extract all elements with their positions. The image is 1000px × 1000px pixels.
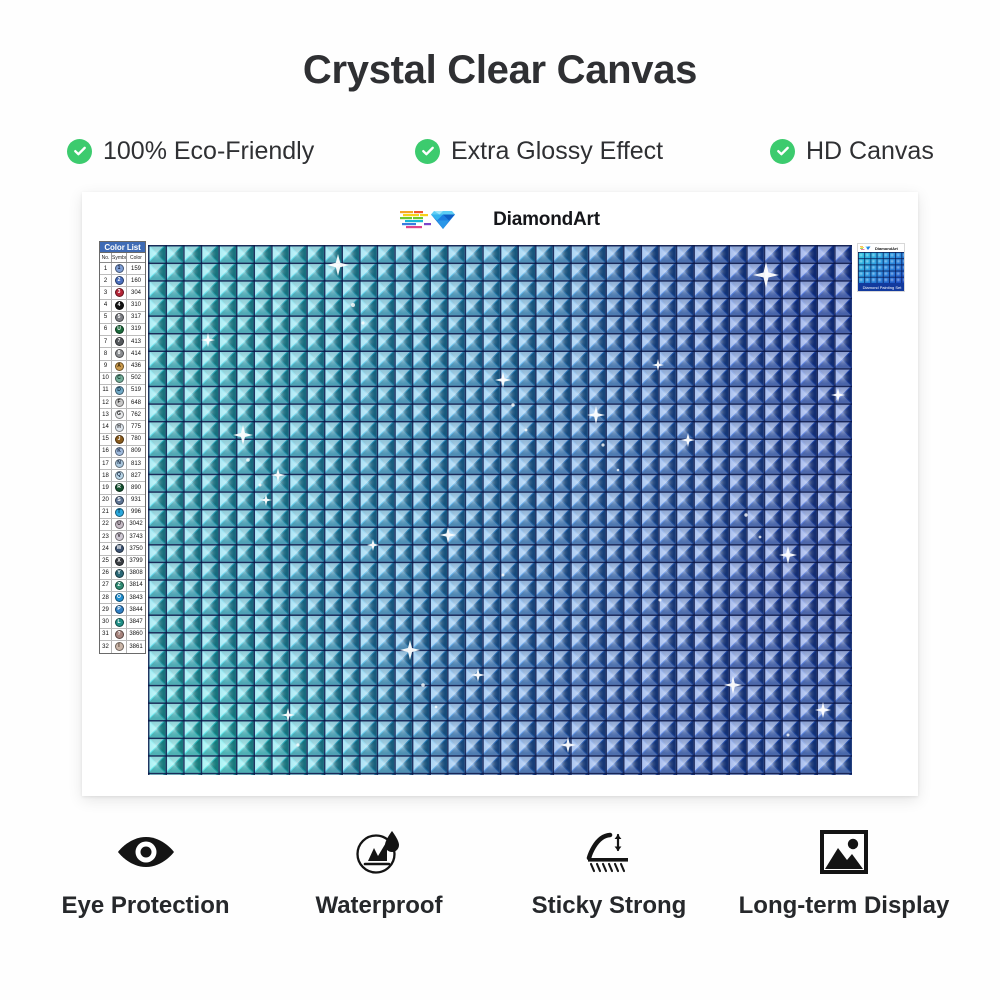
- color-row-code: 414: [127, 348, 145, 359]
- color-row-number: 18: [100, 470, 112, 481]
- color-symbol-swatch: 8: [115, 349, 124, 358]
- color-row-code: 304: [127, 287, 145, 298]
- bottom-feature-label: Waterproof: [268, 892, 490, 920]
- color-row-symbol-cell: G: [112, 409, 127, 420]
- waterdrop-icon: [268, 828, 490, 876]
- adhesive-icon: [500, 828, 718, 876]
- color-row-code: 502: [127, 373, 145, 384]
- color-symbol-swatch: L: [115, 618, 124, 627]
- color-row-symbol-cell: 3: [112, 287, 127, 298]
- bottom-feature-sticky-strong: Sticky Strong: [500, 828, 718, 920]
- color-symbol-swatch: A: [115, 362, 124, 371]
- color-list-header-row: No. Symbol Color: [100, 253, 145, 263]
- color-symbol-swatch: N: [115, 459, 124, 468]
- bottom-feature-label: Eye Protection: [33, 892, 258, 920]
- bottom-feature-label: Sticky Strong: [500, 892, 718, 920]
- color-row-number: 17: [100, 458, 112, 469]
- feature-label: Extra Glossy Effect: [451, 137, 663, 166]
- color-row-number: 29: [100, 604, 112, 615]
- color-symbol-swatch: X: [115, 557, 124, 566]
- color-list-row: 88414: [100, 348, 145, 360]
- color-list-row: 22U3042: [100, 519, 145, 531]
- color-row-code: 931: [127, 495, 145, 506]
- color-list-body: 11159221603330444310553176U3197741388414…: [100, 263, 145, 653]
- color-symbol-swatch: 1: [115, 264, 124, 273]
- color-symbol-swatch: Y: [115, 569, 124, 578]
- color-symbol-swatch: 7: [115, 337, 124, 346]
- color-list-table: Color List No. Symbol Color 111592216033…: [99, 241, 146, 654]
- color-row-symbol-cell: D: [112, 385, 127, 396]
- color-symbol-swatch: R: [115, 483, 124, 492]
- color-row-symbol-cell: 5: [112, 312, 127, 323]
- color-list-row: 23V3743: [100, 531, 145, 543]
- bottom-feature-long-term-display: Long-term Display: [720, 828, 968, 920]
- color-list-row: 32I3861: [100, 641, 145, 653]
- color-row-symbol-cell: F: [112, 397, 127, 408]
- color-row-code: 827: [127, 470, 145, 481]
- color-row-number: 31: [100, 629, 112, 640]
- page-title: Crystal Clear Canvas: [0, 48, 1000, 93]
- color-row-symbol-cell: S: [112, 495, 127, 506]
- color-row-code: 519: [127, 385, 145, 396]
- color-list-row: 21T996: [100, 507, 145, 519]
- color-row-code: 3808: [127, 568, 145, 579]
- color-row-code: 319: [127, 324, 145, 335]
- color-row-code: 310: [127, 300, 145, 311]
- color-row-code: 3799: [127, 556, 145, 567]
- color-row-code: 813: [127, 458, 145, 469]
- color-row-code: 160: [127, 275, 145, 286]
- color-symbol-swatch: O: [115, 593, 124, 602]
- color-row-code: 775: [127, 421, 145, 432]
- color-list-row: 20S931: [100, 495, 145, 507]
- color-symbol-swatch: D: [115, 386, 124, 395]
- color-list-row: 11D519: [100, 385, 145, 397]
- color-row-code: 996: [127, 507, 145, 518]
- feature-hd-canvas: HD Canvas: [770, 137, 934, 166]
- color-list-row: 11159: [100, 263, 145, 275]
- color-row-number: 24: [100, 543, 112, 554]
- color-list-row: 16K809: [100, 446, 145, 458]
- bottom-feature-waterproof: Waterproof: [268, 828, 490, 920]
- color-row-number: 30: [100, 616, 112, 627]
- color-row-symbol-cell: N: [112, 458, 127, 469]
- color-row-number: 14: [100, 421, 112, 432]
- color-list-row: 10C502: [100, 373, 145, 385]
- color-symbol-swatch: C: [115, 374, 124, 383]
- color-row-symbol-cell: R: [112, 482, 127, 493]
- color-row-code: 648: [127, 397, 145, 408]
- color-row-number: 15: [100, 434, 112, 445]
- bottom-feature-row: Eye Protection Waterproof: [0, 828, 1000, 938]
- product-feature-page: Crystal Clear Canvas 100% Eco-Friendly E…: [0, 0, 1000, 1000]
- color-row-number: 10: [100, 373, 112, 384]
- color-list-row: 18Q827: [100, 470, 145, 482]
- color-row-number: 2: [100, 275, 112, 286]
- color-list-row: 30L3847: [100, 616, 145, 628]
- color-row-number: 20: [100, 495, 112, 506]
- color-symbol-swatch: H: [115, 423, 124, 432]
- color-row-number: 16: [100, 446, 112, 457]
- column-header-no: No.: [100, 253, 112, 262]
- feature-label: 100% Eco-Friendly: [103, 137, 314, 166]
- color-row-symbol-cell: U: [112, 324, 127, 335]
- color-symbol-swatch: Q: [115, 471, 124, 480]
- color-row-code: 3814: [127, 580, 145, 591]
- color-symbol-swatch: 2: [115, 276, 124, 285]
- color-symbol-swatch: 5: [115, 313, 124, 322]
- color-list-title: Color List: [100, 242, 145, 253]
- color-row-number: 13: [100, 409, 112, 420]
- color-row-number: 26: [100, 568, 112, 579]
- eye-icon: [33, 828, 258, 876]
- color-symbol-swatch: G: [115, 410, 124, 419]
- thumbnail-header: DiamondArt: [858, 244, 905, 252]
- diamond-mosaic-artwork: [148, 245, 852, 775]
- color-symbol-swatch: W: [115, 544, 124, 553]
- color-list-row: 15J780: [100, 434, 145, 446]
- color-row-number: 23: [100, 531, 112, 542]
- color-row-number: 3: [100, 287, 112, 298]
- color-row-symbol-cell: V: [112, 531, 127, 542]
- color-row-number: 27: [100, 580, 112, 591]
- mosaic-grid-lines: [148, 245, 852, 775]
- color-row-symbol-cell: L: [112, 616, 127, 627]
- color-symbol-swatch: U: [115, 325, 124, 334]
- color-row-number: 1: [100, 263, 112, 274]
- color-row-code: 3847: [127, 616, 145, 627]
- feature-label: HD Canvas: [806, 137, 934, 166]
- color-symbol-swatch: S: [115, 496, 124, 505]
- color-row-symbol-cell: T: [112, 507, 127, 518]
- check-circle-icon: [415, 139, 440, 164]
- color-symbol-swatch: ?: [115, 630, 124, 639]
- color-row-code: 3860: [127, 629, 145, 640]
- color-row-number: 12: [100, 397, 112, 408]
- color-list-row: 17N813: [100, 458, 145, 470]
- color-row-symbol-cell: K: [112, 446, 127, 457]
- diamond-logo-icon: [860, 245, 874, 251]
- color-row-symbol-cell: Q: [112, 470, 127, 481]
- color-list-row: 77413: [100, 336, 145, 348]
- color-list-row: 9A436: [100, 361, 145, 373]
- color-symbol-swatch: 3: [115, 288, 124, 297]
- bottom-feature-eye-protection: Eye Protection: [33, 828, 258, 920]
- color-list-row: 29P3844: [100, 604, 145, 616]
- color-row-symbol-cell: X: [112, 556, 127, 567]
- color-row-number: 32: [100, 641, 112, 653]
- color-row-code: 317: [127, 312, 145, 323]
- color-list-row: 25X3799: [100, 556, 145, 568]
- color-row-symbol-cell: 7: [112, 336, 127, 347]
- color-row-symbol-cell: H: [112, 421, 127, 432]
- color-symbol-swatch: 4: [115, 301, 124, 310]
- color-symbol-swatch: V: [115, 532, 124, 541]
- color-row-number: 9: [100, 361, 112, 372]
- picture-icon: [720, 828, 968, 876]
- color-symbol-swatch: J: [115, 435, 124, 444]
- column-header-symbol: Symbol: [112, 253, 127, 262]
- color-row-symbol-cell: 2: [112, 275, 127, 286]
- color-row-code: 3743: [127, 531, 145, 542]
- color-row-number: 4: [100, 300, 112, 311]
- package-thumbnail: DiamondArt Diamond Painting Set: [857, 243, 905, 292]
- color-row-code: 3843: [127, 592, 145, 603]
- color-row-code: 809: [127, 446, 145, 457]
- color-row-code: 3750: [127, 543, 145, 554]
- color-list-row: 44310: [100, 300, 145, 312]
- diamond-logo-icon: [400, 206, 486, 234]
- brand-header: DiamondArt: [82, 204, 918, 236]
- color-row-symbol-cell: 1: [112, 263, 127, 274]
- color-row-number: 11: [100, 385, 112, 396]
- color-row-symbol-cell: Z: [112, 580, 127, 591]
- color-row-number: 5: [100, 312, 112, 323]
- color-row-symbol-cell: ?: [112, 629, 127, 640]
- color-row-number: 28: [100, 592, 112, 603]
- color-row-code: 413: [127, 336, 145, 347]
- color-row-code: 436: [127, 361, 145, 372]
- color-symbol-swatch: T: [115, 508, 124, 517]
- color-list-row: 27Z3814: [100, 580, 145, 592]
- feature-check-row: 100% Eco-Friendly Extra Glossy Effect HD…: [0, 131, 1000, 171]
- color-row-symbol-cell: Y: [112, 568, 127, 579]
- color-symbol-swatch: U: [115, 520, 124, 529]
- color-list-row: 28O3843: [100, 592, 145, 604]
- color-row-symbol-cell: I: [112, 641, 127, 653]
- color-list-row: 6U319: [100, 324, 145, 336]
- thumbnail-brand: DiamondArt: [875, 246, 898, 251]
- color-symbol-swatch: P: [115, 605, 124, 614]
- canvas-preview-card: DiamondArt: [82, 192, 918, 796]
- color-row-code: 890: [127, 482, 145, 493]
- color-row-code: 159: [127, 263, 145, 274]
- color-list-row: 22160: [100, 275, 145, 287]
- check-circle-icon: [770, 139, 795, 164]
- color-row-number: 7: [100, 336, 112, 347]
- color-row-code: 3861: [127, 641, 145, 653]
- feature-eco-friendly: 100% Eco-Friendly: [67, 137, 314, 166]
- color-list-row: 13G762: [100, 409, 145, 421]
- color-list-row: 12F648: [100, 397, 145, 409]
- color-row-number: 21: [100, 507, 112, 518]
- color-list-row: 24W3750: [100, 543, 145, 555]
- color-symbol-swatch: K: [115, 447, 124, 456]
- color-list-row: 31?3860: [100, 629, 145, 641]
- color-symbol-swatch: F: [115, 398, 124, 407]
- color-row-code: 780: [127, 434, 145, 445]
- check-circle-icon: [67, 139, 92, 164]
- thumbnail-artwork: [858, 252, 905, 285]
- feature-glossy-effect: Extra Glossy Effect: [415, 137, 663, 166]
- column-header-color: Color: [127, 253, 145, 262]
- color-list-row: 26Y3808: [100, 568, 145, 580]
- color-row-symbol-cell: P: [112, 604, 127, 615]
- color-list-row: 19R890: [100, 482, 145, 494]
- color-row-symbol-cell: J: [112, 434, 127, 445]
- color-list-row: 33304: [100, 287, 145, 299]
- color-list-row: 55317: [100, 312, 145, 324]
- color-row-symbol-cell: 8: [112, 348, 127, 359]
- brand-name: DiamondArt: [493, 209, 600, 231]
- color-row-number: 25: [100, 556, 112, 567]
- color-symbol-swatch: Z: [115, 581, 124, 590]
- color-row-number: 6: [100, 324, 112, 335]
- color-row-number: 19: [100, 482, 112, 493]
- color-row-code: 3844: [127, 604, 145, 615]
- color-row-number: 8: [100, 348, 112, 359]
- color-row-code: 3042: [127, 519, 145, 530]
- color-row-symbol-cell: U: [112, 519, 127, 530]
- thumbnail-caption: Diamond Painting Set: [858, 283, 905, 291]
- color-row-symbol-cell: C: [112, 373, 127, 384]
- color-symbol-swatch: I: [115, 642, 124, 651]
- color-row-symbol-cell: O: [112, 592, 127, 603]
- color-list-row: 14H775: [100, 421, 145, 433]
- bottom-feature-label: Long-term Display: [720, 892, 968, 920]
- color-row-number: 22: [100, 519, 112, 530]
- color-row-symbol-cell: A: [112, 361, 127, 372]
- color-row-symbol-cell: 4: [112, 300, 127, 311]
- color-row-code: 762: [127, 409, 145, 420]
- color-row-symbol-cell: W: [112, 543, 127, 554]
